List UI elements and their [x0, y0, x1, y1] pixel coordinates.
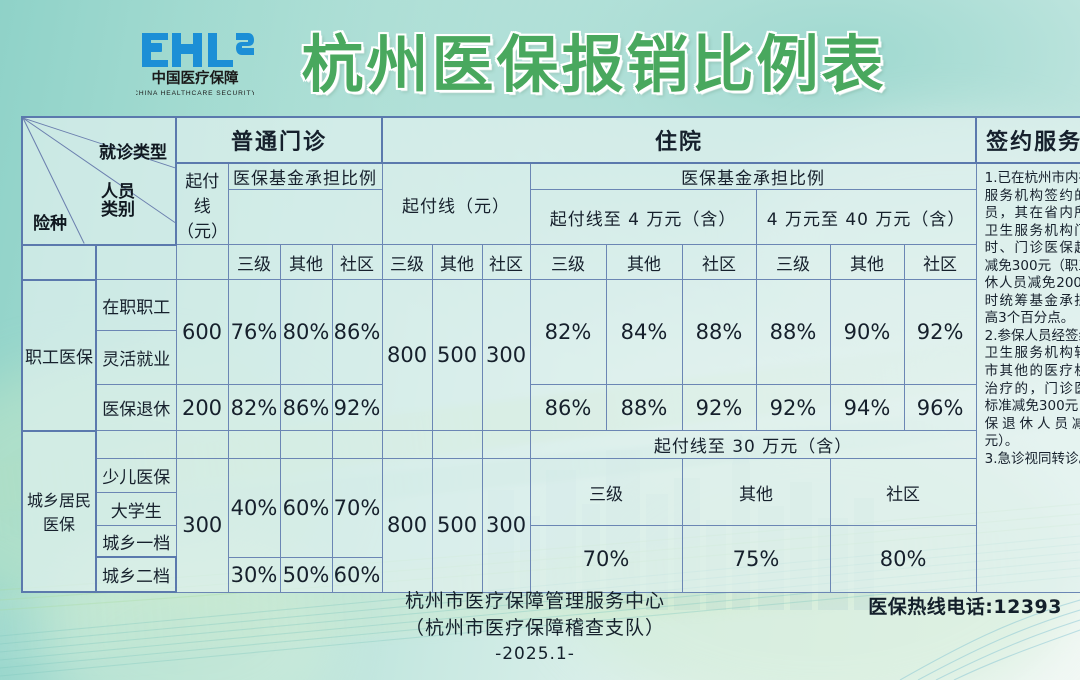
subheader-deductible-line2: （元） — [177, 222, 228, 242]
cell-inpatient-retired-to4w-tertiary: 86% — [530, 385, 606, 431]
cell-resident-inpatient-other: 75% — [682, 526, 830, 593]
spacer-category — [96, 431, 176, 459]
chs-logo-icon: 中国医疗保障 CHINA HEALTHCARE SECURITY — [136, 27, 254, 99]
level-spacer-kind — [22, 245, 96, 280]
level-inpatient-deductible-tertiary: 三级 — [382, 245, 432, 280]
row-category-flexible-employment: 灵活就业 — [96, 331, 176, 385]
cell-resident-inpatient-deductible-community: 300 — [482, 459, 530, 593]
table-row-employee-retired: 医保退休 200 82% 86% 92% 86% 88% 92% 92% 94%… — [22, 385, 1080, 431]
table-row-resident-range-header: 城乡居民 医保 起付线至 30 万元（含） — [22, 431, 1080, 459]
cell-inpatient-active-to4w-tertiary: 82% — [530, 280, 606, 385]
level-to4w-community: 社区 — [682, 245, 756, 280]
row-kind-resident: 城乡居民 医保 — [22, 431, 96, 593]
subheader-inpatient-deductible: 起付线（元） — [382, 163, 530, 245]
level-spacer-category — [96, 245, 176, 280]
level-spacer-outpatient-deductible — [176, 245, 228, 280]
cell-outpatient-deductible-active: 600 — [176, 280, 228, 385]
spacer-outpatient-other — [280, 431, 332, 459]
cell-resident-outpatient-g1-community: 70% — [332, 459, 382, 558]
corner-label-visit-type: 就诊类型 — [99, 138, 167, 163]
page-footer: 杭州市医疗保障管理服务中心 （杭州市医疗保障稽查支队） -2025.1- 医保热… — [0, 588, 1080, 680]
row-category-active-employee: 在职职工 — [96, 280, 176, 331]
page-title: 杭州医保报销比例表 — [284, 16, 904, 102]
row-category-retired: 医保退休 — [96, 385, 176, 431]
cell-outpatient-retired-tertiary: 82% — [228, 385, 280, 431]
row-kind-resident-line2: 医保 — [43, 515, 75, 534]
footer-organization: 杭州市医疗保障管理服务中心 （杭州市医疗保障稽查支队） -2025.1- — [300, 588, 770, 664]
page-header: 中国医疗保障 CHINA HEALTHCARE SECURITY 杭州医保报销比… — [0, 0, 1080, 108]
spacer-inpatient-deductible-tertiary — [382, 431, 432, 459]
corner-label-person-category: 人员 类别 — [101, 184, 135, 220]
row-category-urban-rural-tier2: 城乡二档 — [96, 557, 176, 592]
hotline-text: 医保热线电话:12393 — [868, 592, 1062, 619]
table-header-row-sub: 起付线 （元） 医保基金承担比例 起付线（元） 医保基金承担比例 1.已在杭州市… — [22, 163, 1080, 190]
footer-org-line1: 杭州市医疗保障管理服务中心 — [300, 588, 770, 615]
table-header-row-groups: 就诊类型 人员 类别 险种 普通门诊 住院 签约服务待遇 — [22, 117, 1080, 163]
footer-date: -2025.1- — [300, 644, 770, 664]
cell-outpatient-deductible-retired: 200 — [176, 385, 228, 431]
level-resident-other: 其他 — [682, 459, 830, 526]
cell-resident-outpatient-g2-other: 50% — [280, 557, 332, 592]
cell-inpatient-active-4to40w-community: 92% — [904, 280, 976, 385]
cell-inpatient-active-4to40w-other: 90% — [830, 280, 904, 385]
level-outpatient-other: 其他 — [280, 245, 332, 280]
footer-org-line2: （杭州市医疗保障稽查支队） — [300, 615, 770, 642]
cell-inpatient-retired-4to40w-community: 96% — [904, 385, 976, 431]
cell-resident-outpatient-g1-other: 60% — [280, 459, 332, 558]
cell-inpatient-active-4to40w-tertiary: 88% — [756, 280, 830, 385]
table-header-row-levels: 三级 其他 社区 三级 其他 社区 三级 其他 社区 三级 其他 社区 — [22, 245, 1080, 280]
subheader-inpatient-fund-ratio: 医保基金承担比例 — [530, 163, 976, 190]
subheader-range-4w-to-40w: 4 万元至 40 万元（含） — [756, 190, 976, 245]
level-4to40w-other: 其他 — [830, 245, 904, 280]
cell-inpatient-deductible-employee-other: 500 — [432, 280, 482, 431]
policy-item-3: 3.急诊视同转诊。 — [985, 451, 1080, 469]
cell-resident-outpatient-g1-tertiary: 40% — [228, 459, 280, 558]
cell-outpatient-active-community: 86% — [332, 280, 382, 385]
group-header-inpatient: 住院 — [382, 117, 976, 163]
cell-outpatient-retired-community: 92% — [332, 385, 382, 431]
table-row-employee-active: 职工医保 在职职工 600 76% 80% 86% 800 500 300 82… — [22, 280, 1080, 331]
reimbursement-rate-table: 就诊类型 人员 类别 险种 普通门诊 住院 签约服务待遇 起付线 （元） 医保基… — [21, 116, 1059, 582]
spacer-outpatient-community — [332, 431, 382, 459]
cell-inpatient-retired-4to40w-tertiary: 92% — [756, 385, 830, 431]
cell-inpatient-active-to4w-community: 88% — [682, 280, 756, 385]
policy-item-2: 2.参保人员经签约的社区卫生服务机构转诊至本市其他的医疗机构继续治疗的，门诊医保… — [985, 328, 1080, 451]
cell-outpatient-active-other: 80% — [280, 280, 332, 385]
corner-header-cell: 就诊类型 人员 类别 险种 — [22, 117, 176, 245]
cell-inpatient-retired-4to40w-other: 94% — [830, 385, 904, 431]
row-kind-resident-line1: 城乡居民 — [27, 491, 91, 510]
subheader-outpatient-fund-ratio: 医保基金承担比例 — [228, 163, 382, 190]
contract-service-policy-text: 1.已在杭州市内社区卫生服务机构签约的参保人员，其在省内所有社区卫生服务机构门诊… — [976, 163, 1080, 592]
subheader-outpatient-ratio-blank — [228, 190, 382, 245]
row-kind-employee: 职工医保 — [22, 280, 96, 431]
spacer-outpatient-tertiary — [228, 431, 280, 459]
spacer-outpatient-deductible — [176, 431, 228, 459]
table-row-resident-children: 少儿医保 300 40% 60% 70% 800 500 300 三级 其他 社… — [22, 459, 1080, 493]
subheader-outpatient-deductible: 起付线 （元） — [176, 163, 228, 245]
level-outpatient-tertiary: 三级 — [228, 245, 280, 280]
policy-item-1: 1.已在杭州市内社区卫生服务机构签约的参保人员，其在省内所有社区卫生服务机构门诊… — [985, 170, 1080, 328]
cell-inpatient-active-to4w-other: 84% — [606, 280, 682, 385]
cell-resident-inpatient-community: 80% — [830, 526, 976, 593]
level-to4w-other: 其他 — [606, 245, 682, 280]
cell-resident-outpatient-g2-tertiary: 30% — [228, 557, 280, 592]
level-inpatient-deductible-community: 社区 — [482, 245, 530, 280]
row-category-university-student: 大学生 — [96, 493, 176, 526]
logo-cn-name: 中国医疗保障 — [152, 69, 239, 87]
row-category-children-insurance: 少儿医保 — [96, 459, 176, 493]
subheader-range-to-4w: 起付线至 4 万元（含） — [530, 190, 756, 245]
level-inpatient-deductible-other: 其他 — [432, 245, 482, 280]
level-4to40w-community: 社区 — [904, 245, 976, 280]
cell-resident-inpatient-deductible-other: 500 — [432, 459, 482, 593]
subheader-range-to-30w: 起付线至 30 万元（含） — [530, 431, 976, 459]
cell-resident-outpatient-g2-community: 60% — [332, 557, 382, 592]
group-header-outpatient: 普通门诊 — [176, 117, 382, 163]
corner-label-person-line2: 类别 — [101, 200, 135, 220]
logo-en-name: CHINA HEALTHCARE SECURITY — [136, 90, 254, 97]
row-category-urban-rural-tier1: 城乡一档 — [96, 526, 176, 558]
level-4to40w-tertiary: 三级 — [756, 245, 830, 280]
cell-inpatient-retired-to4w-community: 92% — [682, 385, 756, 431]
cell-resident-inpatient-deductible-tertiary: 800 — [382, 459, 432, 593]
group-header-contract-service: 签约服务待遇 — [976, 117, 1080, 163]
cell-inpatient-deductible-employee-community: 300 — [482, 280, 530, 431]
cell-outpatient-retired-other: 86% — [280, 385, 332, 431]
corner-label-insurance-kind: 险种 — [33, 209, 67, 234]
subheader-deductible-line1: 起付线 — [185, 172, 219, 217]
cell-resident-outpatient-deductible: 300 — [176, 459, 228, 593]
cell-outpatient-active-tertiary: 76% — [228, 280, 280, 385]
level-resident-community: 社区 — [830, 459, 976, 526]
spacer-inpatient-deductible-community — [482, 431, 530, 459]
level-to4w-tertiary: 三级 — [530, 245, 606, 280]
cell-inpatient-deductible-employee-tertiary: 800 — [382, 280, 432, 431]
level-outpatient-community: 社区 — [332, 245, 382, 280]
cell-resident-inpatient-tertiary: 70% — [530, 526, 682, 593]
cell-inpatient-retired-to4w-other: 88% — [606, 385, 682, 431]
level-resident-tertiary: 三级 — [530, 459, 682, 526]
spacer-inpatient-deductible-other — [432, 431, 482, 459]
